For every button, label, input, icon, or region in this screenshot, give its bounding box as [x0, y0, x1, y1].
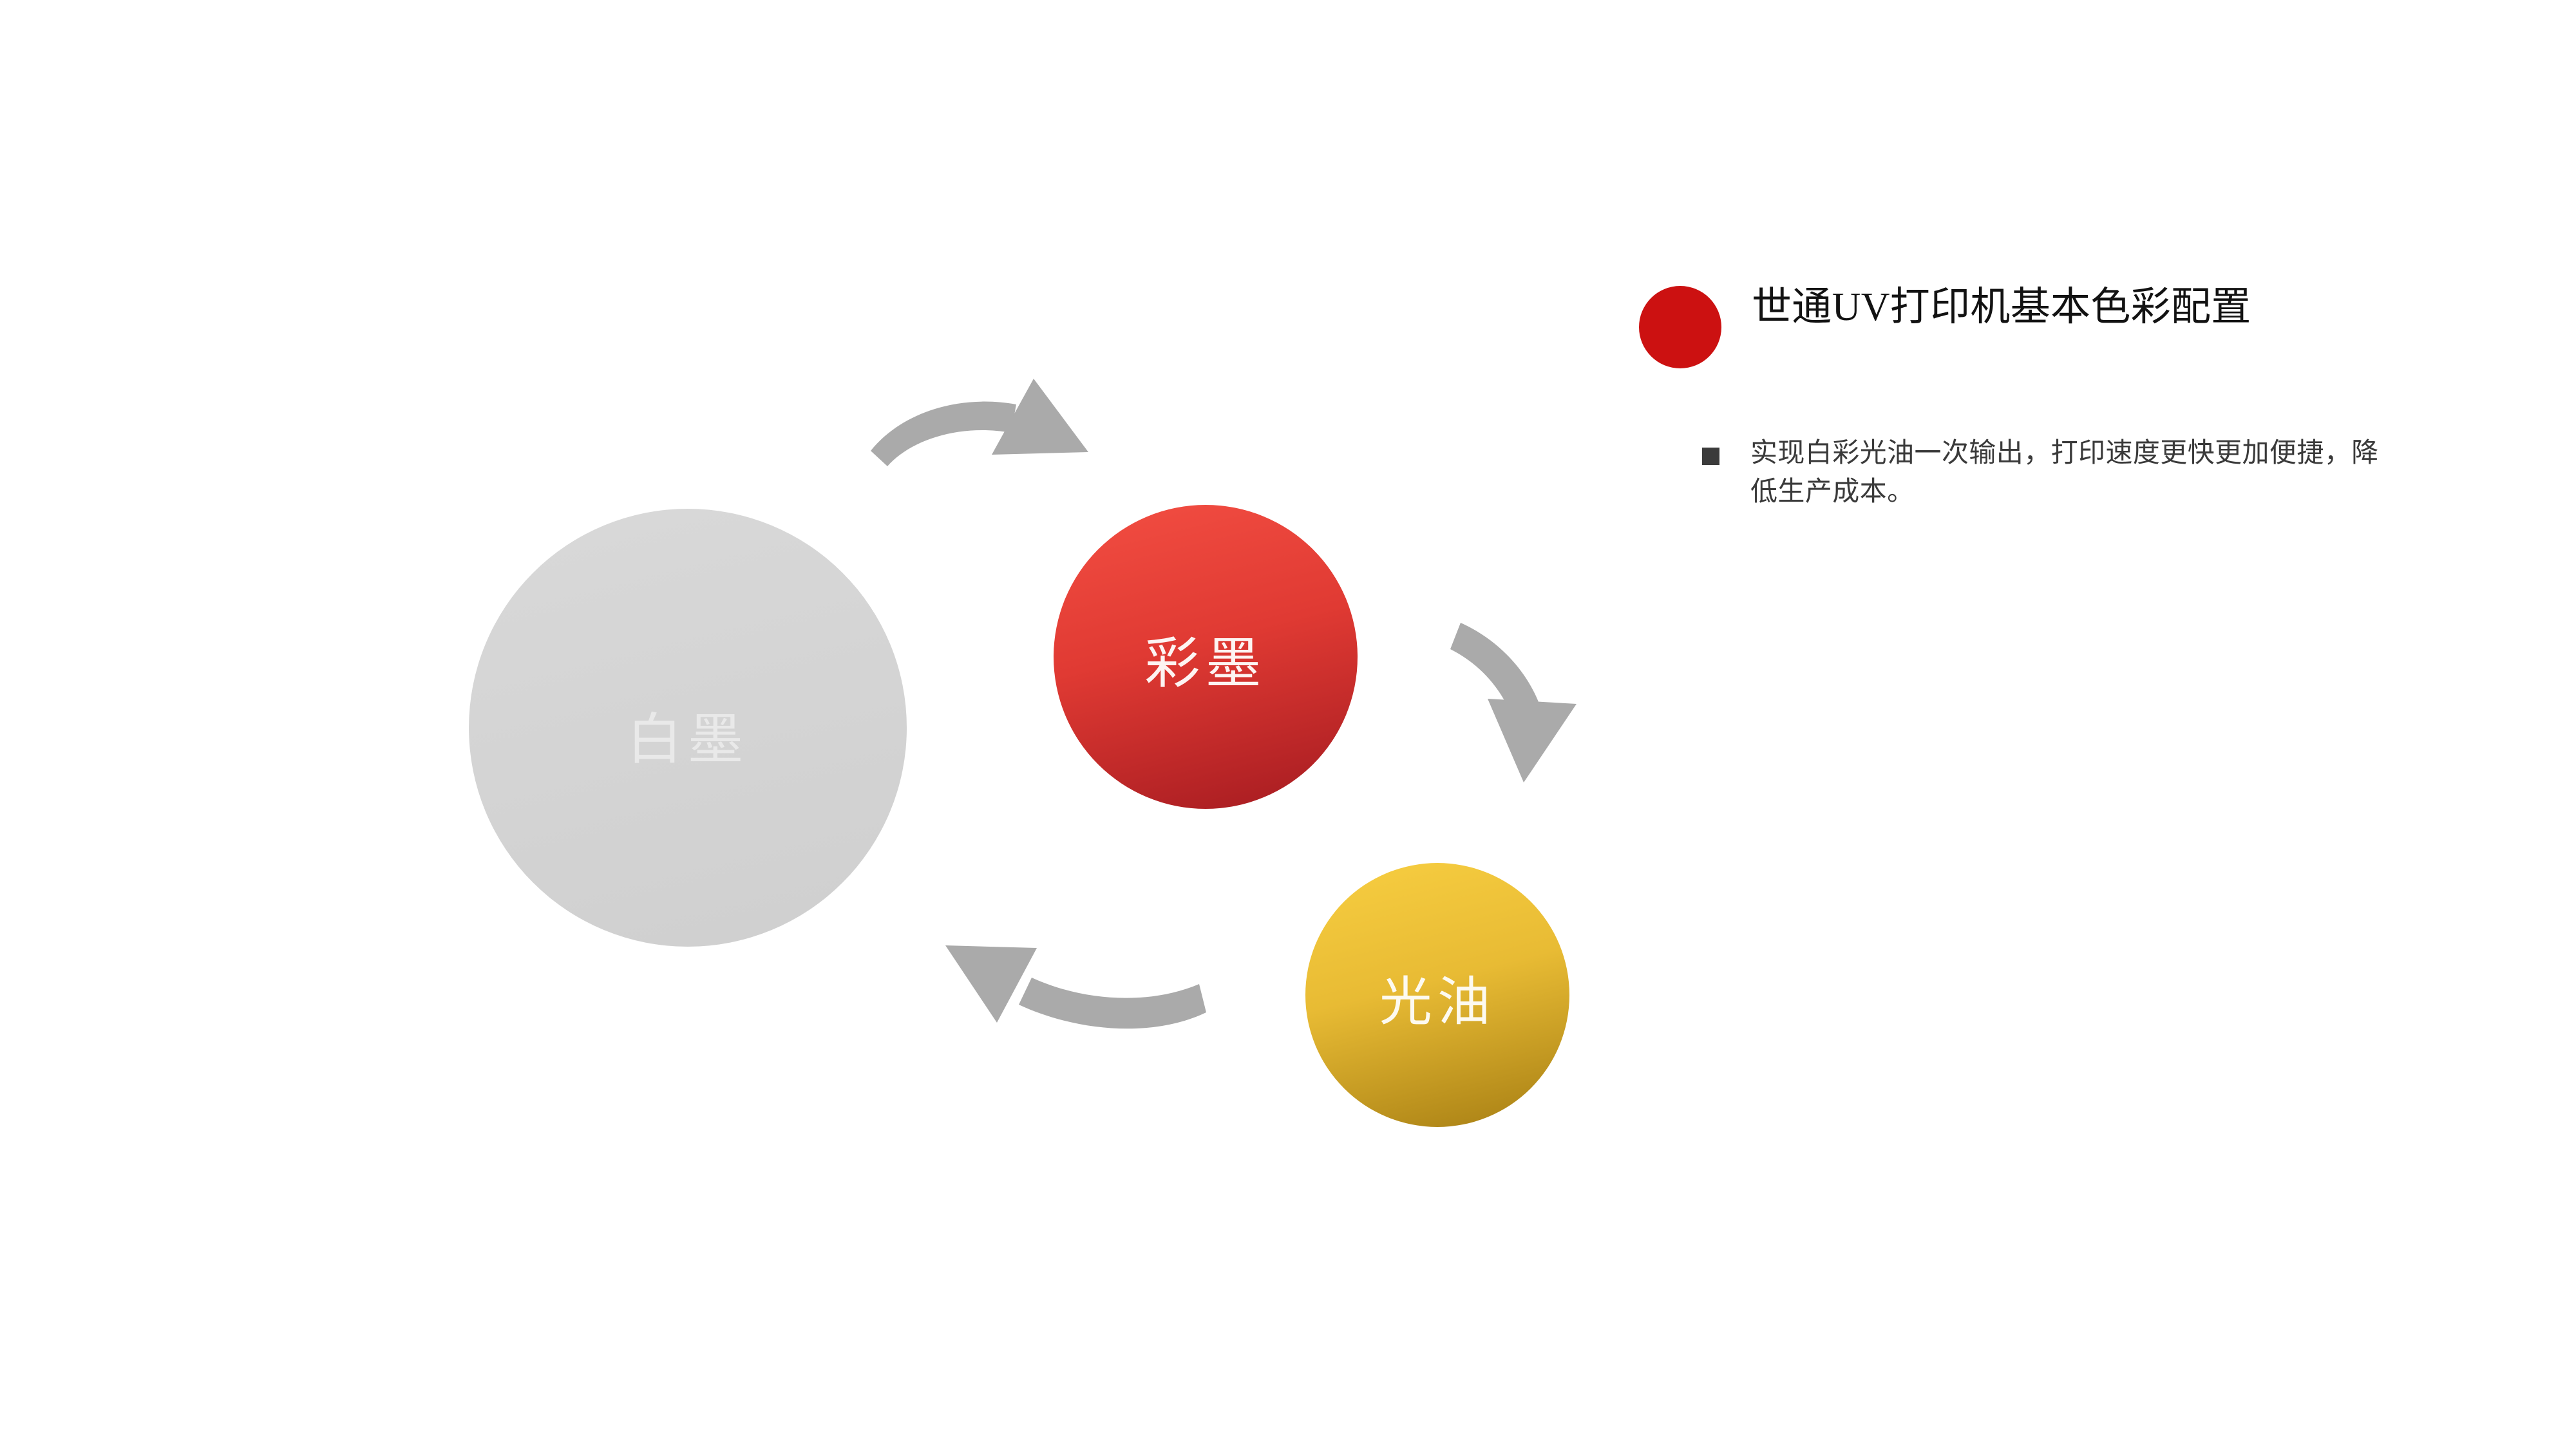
arrow-varnish-to-white-icon — [945, 945, 1206, 1028]
bullet-list: 实现白彩光油一次输出，打印速度更快更加便捷，降低生产成本。 — [1702, 435, 2398, 523]
text-panel: 世通UV打印机基本色彩配置 实现白彩光油一次输出，打印速度更快更加便捷，降低生产… — [1636, 277, 2434, 374]
node-varnish-circle[interactable] — [1305, 863, 1569, 1127]
list-item-label: 实现白彩光油一次输出，打印速度更快更加便捷，降低生产成本。 — [1750, 439, 2379, 507]
node-white-ink-circle[interactable] — [469, 509, 907, 947]
arrow-color-to-varnish-icon — [1450, 623, 1577, 782]
square-bullet-icon — [1702, 448, 1719, 465]
red-circle-bullet-icon — [1639, 286, 1721, 368]
node-color-ink-circle[interactable] — [1054, 505, 1358, 809]
list-item: 实现白彩光油一次输出，打印速度更快更加便捷，降低生产成本。 — [1702, 435, 2398, 511]
arrow-white-to-color-icon — [871, 379, 1088, 466]
slide-canvas: 白墨 彩墨 光油 世通UV打印机基本色彩配置 实现白彩光油一次输出，打印速度更快… — [0, 0, 2576, 1449]
heading-row: 世通UV打印机基本色彩配置 — [1636, 277, 2434, 374]
ink-cycle-diagram: 白墨 彩墨 光油 — [0, 0, 1674, 1449]
page-title: 世通UV打印机基本色彩配置 — [1752, 285, 2251, 330]
diagram-svg — [0, 0, 1674, 1449]
